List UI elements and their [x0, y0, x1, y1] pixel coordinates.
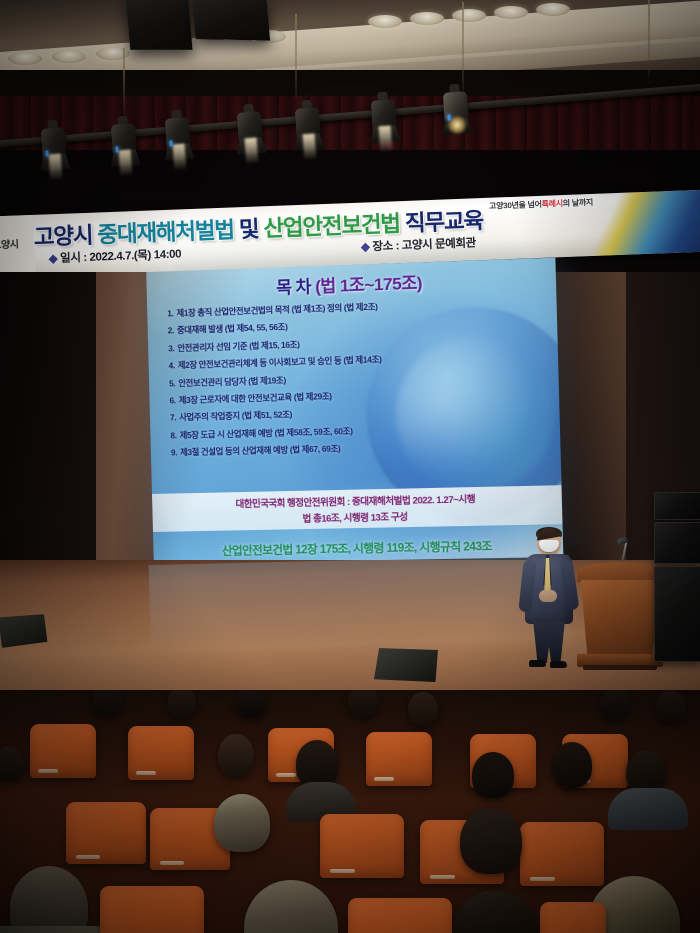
toc-number: 7.	[170, 413, 177, 423]
toc-text: 제2장 안전보건관리체계 등 이사회보고 및 승인 등 (법 제14조)	[178, 354, 382, 370]
toc-number: 1.	[167, 308, 174, 318]
slide-footer-block: 대한민국국회 행정안전위원회 : 중대재해처벌법 2022. 1.27~시행 법…	[152, 485, 563, 532]
truss-wire	[123, 48, 125, 114]
banner-location: ◆장소 : 고양시 문예회관	[361, 234, 476, 254]
floor-monitor-speaker	[374, 648, 438, 682]
stage-spotlight	[370, 95, 397, 141]
audience-head	[92, 690, 122, 716]
stage-spotlight	[40, 123, 67, 169]
slide-toc-list: 1.제1장 총직 산업안전보건법의 목적 (법 제1조) 정의 (법 제2조) …	[167, 295, 552, 464]
toc-text: 중대재해 발생 (법 제54, 55, 56조)	[177, 322, 288, 336]
speaker-cabinet	[654, 522, 700, 564]
auditorium-seat	[30, 724, 96, 778]
toc-number: 2.	[168, 326, 175, 336]
podium-body	[581, 580, 659, 656]
toc-text: 제3절 건설업 등의 산업재해 예방 (법 제67, 69조)	[180, 444, 340, 458]
stage-spotlight-lit	[442, 87, 469, 133]
audience-head	[348, 690, 378, 718]
truss-wire	[295, 14, 297, 98]
auditorium-seat	[520, 822, 604, 886]
downlight-icon	[410, 12, 444, 25]
podium-foot	[583, 665, 657, 670]
stage-spotlight	[236, 107, 263, 153]
toc-text: 안전관리자 선임 기준 (법 제15, 16조)	[177, 339, 299, 353]
downlight-icon	[52, 50, 86, 63]
audience-head	[10, 866, 88, 933]
toc-number: 5.	[169, 378, 176, 388]
banner-title-part-1: 고양시	[33, 223, 92, 250]
presenter-hands	[539, 590, 557, 602]
projector-light-spill	[149, 555, 572, 675]
auditorium-scene: 고양시 고양30년을 넘어특례시의 날까지 고양시 중대재해처벌법 및 산업안전…	[0, 0, 700, 933]
stage-spotlight	[164, 113, 191, 159]
speaker-cabinet	[654, 492, 700, 520]
presenter-shoe	[550, 661, 567, 668]
audience-head	[244, 880, 338, 933]
audience-head	[236, 690, 266, 718]
toc-text: 사업주의 작업중지 (법 제51, 52조)	[179, 410, 292, 423]
audience-head	[552, 742, 592, 788]
audience-shoulders	[608, 788, 688, 830]
truss-wire	[648, 0, 650, 78]
toc-number: 9.	[171, 447, 178, 457]
auditorium-seat	[366, 732, 432, 786]
slide-title-main: 목 차	[276, 277, 311, 297]
auditorium-seat	[540, 902, 606, 933]
toc-number: 4.	[168, 360, 175, 370]
stage-spotlight	[110, 119, 137, 165]
downlight-icon	[368, 15, 402, 28]
toc-number: 3.	[168, 343, 175, 353]
banner-title-part-2: 중대재해처벌법	[97, 217, 234, 247]
audience-area	[0, 690, 700, 933]
auditorium-seat	[128, 726, 194, 780]
podium-top	[577, 562, 663, 582]
wooden-podium	[577, 562, 663, 670]
banner-gradient-decor	[593, 189, 700, 255]
toc-number: 6.	[169, 395, 176, 405]
downlight-icon	[536, 3, 570, 16]
projection-screen: 목 차 (법 1조~175조) 1.제1장 총직 산업안전보건법의 목적 (법 …	[146, 258, 563, 564]
speaker-cabinet	[654, 566, 700, 662]
banner-place-value: 고양시 문예회관	[402, 237, 476, 252]
audience-head	[600, 690, 630, 720]
audience-head	[408, 692, 438, 726]
audience-head	[0, 746, 24, 782]
stage-spotlight	[294, 103, 321, 149]
slide-title-range: (법 1조~175조)	[315, 274, 422, 297]
ceiling-speaker	[125, 0, 192, 50]
audience-head	[472, 752, 514, 798]
toc-text: 제3장 근로자에 대한 안전보건교육 (법 제29조)	[179, 391, 332, 405]
audience-head	[460, 808, 522, 874]
downlight-icon	[8, 52, 42, 65]
audience-head	[296, 740, 338, 788]
downlight-icon	[494, 6, 528, 19]
toc-item: 9.제3절 건설업 등의 산업재해 예방 (법 제67, 69조)	[171, 437, 552, 458]
toc-text: 제5장 도급 시 산업재해 예방 (법 제58조, 59조, 60조)	[180, 426, 353, 440]
audience-head	[452, 890, 538, 933]
toc-number: 8.	[170, 430, 177, 440]
audience-head	[218, 734, 254, 776]
audience-head	[214, 794, 270, 852]
truss-wire	[462, 2, 464, 94]
diamond-bullet-icon: ◆	[361, 241, 370, 253]
slide-surface: 목 차 (법 1조~175조) 1.제1장 총직 산업안전보건법의 목적 (법 …	[146, 258, 563, 564]
auditorium-seat	[320, 814, 404, 878]
audience-head	[168, 690, 196, 718]
toc-text: 안전보건관리 담당자 (법 제19조)	[178, 375, 286, 388]
presenter-shoe	[529, 660, 546, 667]
auditorium-seat	[100, 886, 204, 933]
banner-city-tag: 고양시	[0, 235, 19, 251]
ceiling-speaker	[192, 0, 270, 41]
banner-date-value: 2022.4.7.(목) 14:00	[89, 248, 181, 263]
banner-title-part-4: 산업안전보건법	[263, 211, 400, 241]
audience-head	[656, 690, 686, 722]
diamond-bullet-icon: ◆	[49, 253, 58, 265]
banner-title-part-3: 및	[238, 216, 258, 242]
banner-place-label: 장소	[372, 240, 393, 253]
toc-text: 제1장 총직 산업안전보건법의 목적 (법 제1조) 정의 (법 제2조)	[176, 301, 377, 318]
downlight-icon	[452, 9, 486, 22]
presenter-trousers	[531, 621, 567, 663]
presenter-figure	[519, 528, 579, 668]
banner-title-part-5: 직무교육	[404, 208, 483, 236]
speaker-stack	[654, 492, 700, 688]
auditorium-seat	[348, 898, 452, 933]
auditorium-seat	[66, 802, 146, 864]
banner-date-label: 일시	[60, 252, 81, 265]
